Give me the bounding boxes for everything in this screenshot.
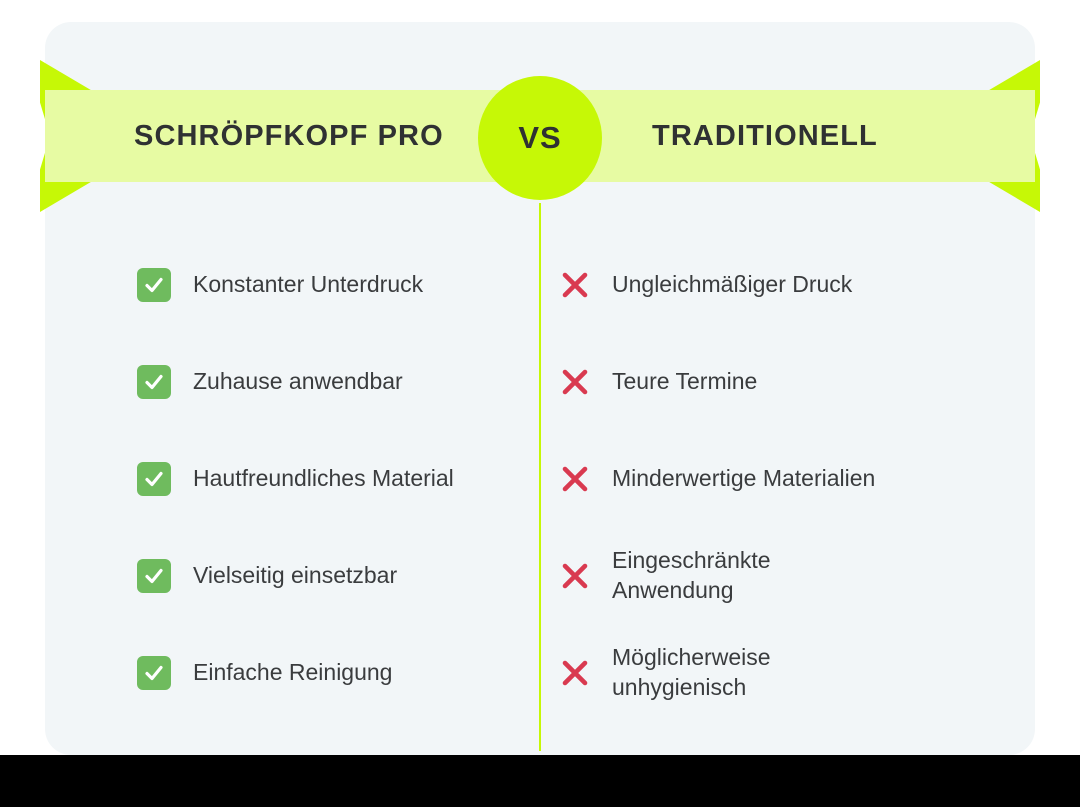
list-item: Hautfreundliches Material	[137, 430, 517, 527]
cross-icon	[558, 656, 592, 690]
list-item-label: Ungleichmäßiger Druck	[612, 270, 852, 299]
pro-column: Konstanter Unterdruck Zuhause anwendbar …	[137, 236, 517, 721]
list-item-label: Konstanter Unterdruck	[193, 270, 423, 299]
check-icon	[137, 462, 171, 496]
column-header-traditional: TRADITIONELL	[652, 90, 878, 182]
check-icon	[137, 559, 171, 593]
bottom-strip	[0, 755, 1080, 807]
cross-icon	[558, 559, 592, 593]
list-item: Möglicherweise unhygienisch	[558, 624, 978, 721]
cross-icon	[558, 365, 592, 399]
list-item: Eingeschränkte Anwendung	[558, 527, 978, 624]
list-item: Vielseitig einsetzbar	[137, 527, 517, 624]
list-item-label: Minderwertige Materialien	[612, 464, 875, 493]
list-item: Einfache Reinigung	[137, 624, 517, 721]
list-item: Zuhause anwendbar	[137, 333, 517, 430]
list-item-label: Hautfreundliches Material	[193, 464, 454, 493]
cross-icon	[558, 462, 592, 496]
check-icon	[137, 268, 171, 302]
list-item: Ungleichmäßiger Druck	[558, 236, 978, 333]
list-item: Konstanter Unterdruck	[137, 236, 517, 333]
list-item-label: Zuhause anwendbar	[193, 367, 403, 396]
column-divider	[539, 203, 541, 751]
list-item-label: Einfache Reinigung	[193, 658, 392, 687]
traditional-column: Ungleichmäßiger Druck Teure Termine Mind…	[558, 236, 978, 721]
vs-badge: VS	[478, 76, 602, 200]
check-icon	[137, 656, 171, 690]
list-item: Minderwertige Materialien	[558, 430, 978, 527]
list-item: Teure Termine	[558, 333, 978, 430]
list-item-label: Teure Termine	[612, 367, 757, 396]
list-item-label: Vielseitig einsetzbar	[193, 561, 397, 590]
list-item-label: Eingeschränkte Anwendung	[612, 546, 862, 605]
list-item-label: Möglicherweise unhygienisch	[612, 643, 852, 702]
check-icon	[137, 365, 171, 399]
cross-icon	[558, 268, 592, 302]
column-header-pro: SCHRÖPFKOPF PRO	[134, 90, 444, 182]
